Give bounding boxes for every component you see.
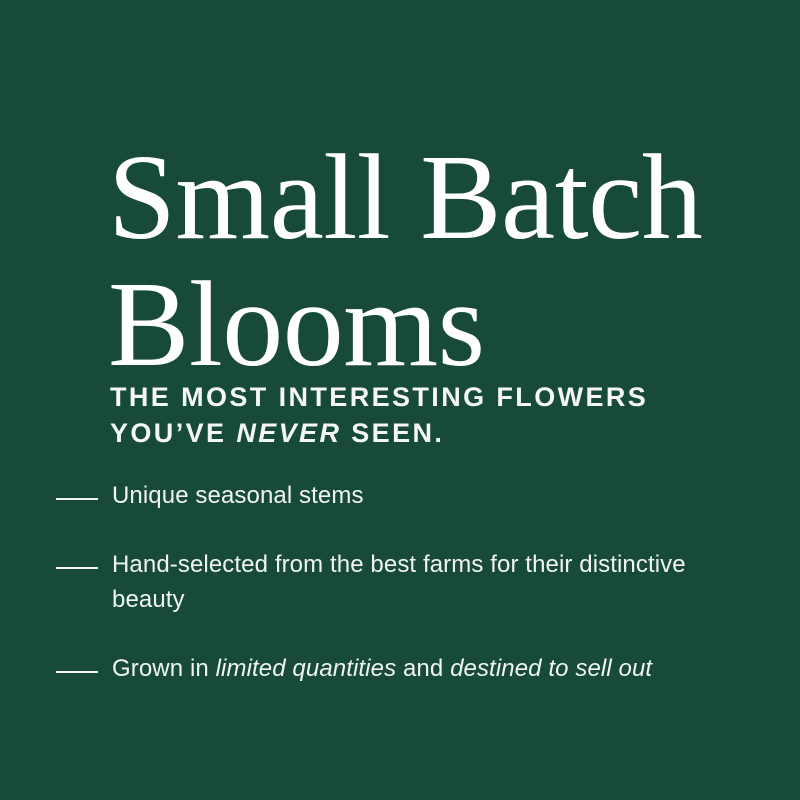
em-dash-rule-icon — [56, 671, 98, 673]
list-item: Unique seasonal stems — [56, 478, 756, 513]
page-title: Small Batch Blooms — [108, 134, 768, 388]
feature-list: Unique seasonal stems Hand-selected from… — [56, 478, 756, 686]
em-dash-rule-icon — [56, 498, 98, 500]
list-item: Hand-selected from the best farms for th… — [56, 547, 756, 617]
list-item-label: Hand-selected from the best farms for th… — [112, 551, 686, 613]
list-item-segment-emphasis: limited quantities — [216, 655, 397, 682]
promo-poster: Small Batch Blooms The most interesting … — [0, 0, 800, 800]
list-item-label: Unique seasonal stems — [112, 482, 364, 509]
list-item-segment: Grown in — [112, 655, 216, 682]
em-dash-rule-icon — [56, 567, 98, 569]
list-item-segment: Hand-selected from the best farms for th… — [112, 551, 686, 613]
subtitle-emphasis: never — [236, 418, 341, 448]
list-item-segment: Unique seasonal stems — [112, 482, 364, 509]
list-item-segment: and — [396, 655, 450, 682]
list-item: Grown in limited quantities and destined… — [56, 651, 756, 686]
list-item-segment-emphasis: destined to sell out — [450, 655, 652, 682]
subtitle-part-two: seen. — [341, 418, 444, 448]
subtitle: The most interesting flowers you’ve neve… — [110, 379, 770, 451]
list-item-label: Grown in limited quantities and destined… — [112, 655, 652, 682]
